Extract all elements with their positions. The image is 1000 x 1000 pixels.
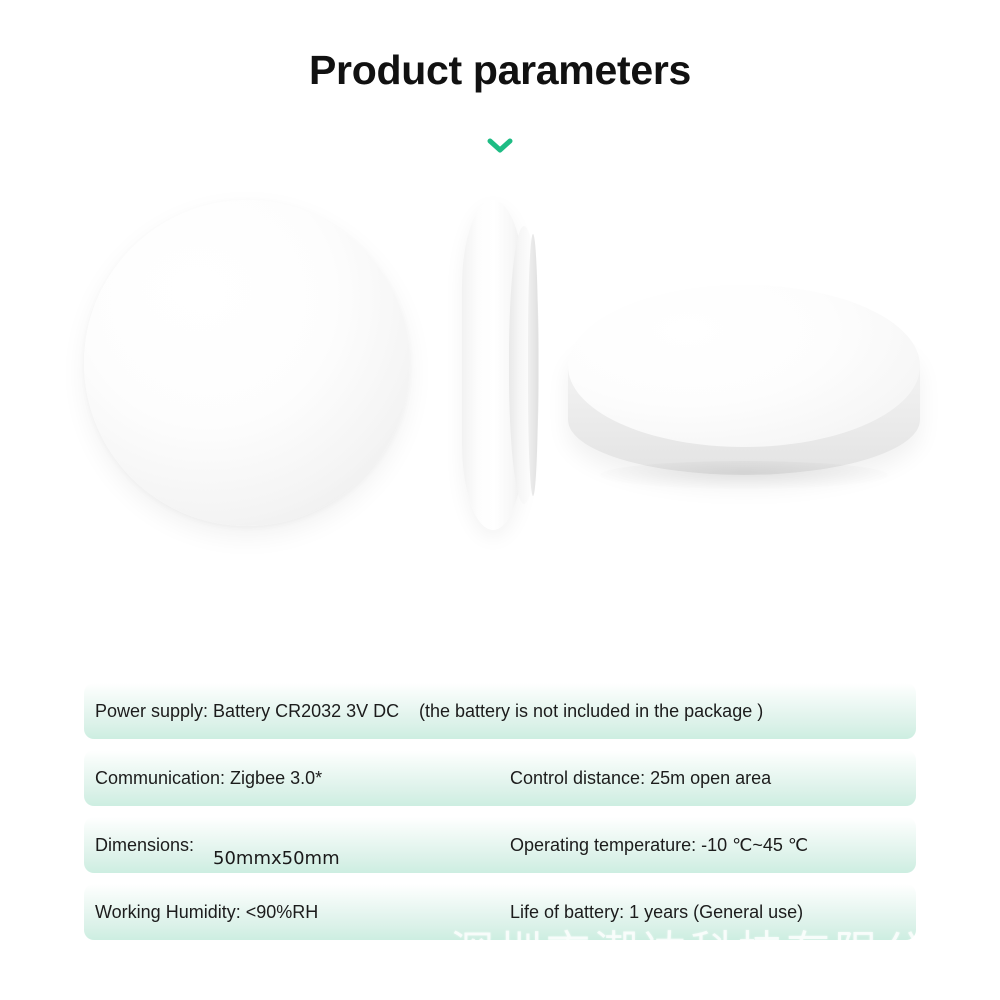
spec-row-power-supply: Power supply: Battery CR2032 3V DC (the … — [84, 683, 916, 739]
product-top-view — [84, 200, 410, 526]
product-perspective-shadow — [600, 461, 888, 489]
spec-working-humidity-label: Working Humidity: <90%RH — [95, 902, 318, 923]
chevron-down-icon[interactable] — [486, 136, 514, 161]
spec-dimensions-value: 50mmx50mm — [213, 848, 340, 869]
spec-power-supply-note: (the battery is not included in the pack… — [419, 701, 763, 722]
spec-dimensions-label: Dimensions: — [95, 835, 194, 856]
spec-row-dimensions: Dimensions: 50mmx50mm Operating temperat… — [84, 817, 916, 873]
product-perspective-view — [568, 285, 920, 500]
product-perspective-top-face — [568, 285, 920, 447]
spec-battery-life-label: Life of battery: 1 years (General use) — [510, 902, 803, 923]
product-gallery — [0, 175, 1000, 645]
page-title: Product parameters — [0, 50, 1000, 91]
chevron-down-container — [0, 136, 1000, 161]
spec-row-humidity: Working Humidity: <90%RH Life of battery… — [84, 884, 916, 940]
spec-operating-temperature-label: Operating temperature: -10 ℃~45 ℃ — [510, 835, 808, 856]
spec-control-distance-label: Control distance: 25m open area — [510, 768, 771, 789]
spec-power-supply-label: Power supply: Battery CR2032 3V DC — [95, 701, 399, 722]
product-side-view — [462, 200, 554, 530]
spec-communication-label: Communication: Zigbee 3.0* — [95, 768, 322, 789]
product-side-rim-edge — [528, 234, 538, 496]
specification-list: Power supply: Battery CR2032 3V DC (the … — [84, 683, 916, 951]
spec-row-communication: Communication: Zigbee 3.0* Control dista… — [84, 750, 916, 806]
